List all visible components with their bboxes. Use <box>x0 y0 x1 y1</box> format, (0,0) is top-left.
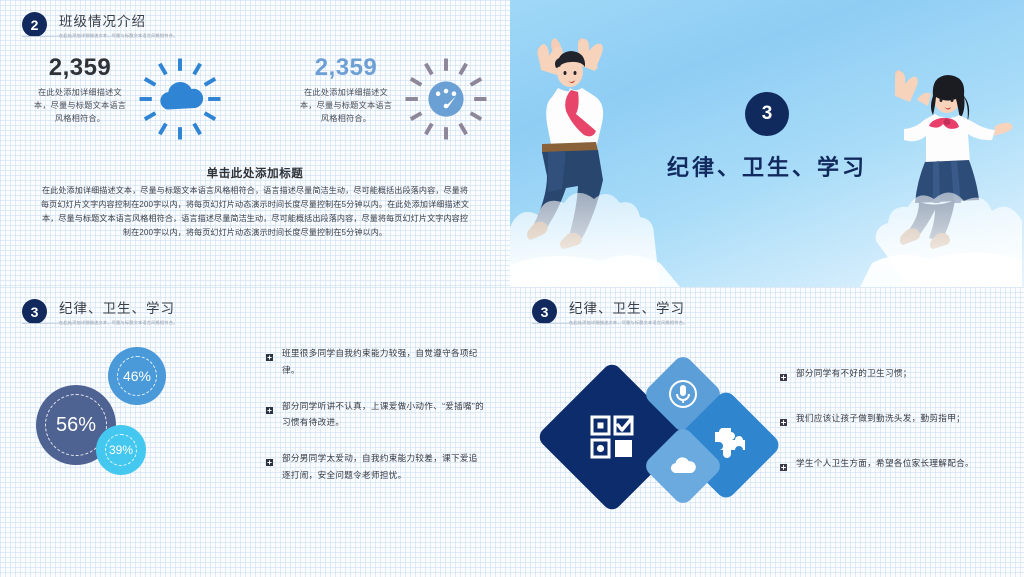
microphone-icon <box>668 379 698 409</box>
header-divider <box>532 323 702 324</box>
bubble-label: 56% <box>56 414 96 437</box>
header-number-badge: 2 <box>22 12 47 37</box>
percentage-bubbles: 56% 46% 39% <box>36 347 266 527</box>
square-plus-bullet-icon <box>780 368 787 386</box>
page-title: 纪律、卫生、学习 <box>59 297 177 317</box>
slide-class-overview[interactable]: 2 班级情况介绍 在此处添加详细描述文本，尽量与标题文本语言风格相符合。 2,3… <box>0 0 510 287</box>
page-title: 纪律、卫生、学习 <box>569 297 687 317</box>
square-plus-bullet-icon <box>780 458 787 476</box>
page-title: 班级情况介绍 <box>59 10 177 30</box>
bullet-list: 班里很多同学自我约束能力较强，自觉遵守各项纪律。 部分同学听讲不认真，上课爱做小… <box>266 345 484 503</box>
slide-section-divider[interactable]: 3 纪律、卫生、学习 <box>510 0 1024 287</box>
stat-value: 2,359 <box>30 55 130 81</box>
bubble-39[interactable]: 39% <box>96 425 146 475</box>
section-number-badge: 3 <box>745 92 789 136</box>
list-item-text: 部分同学有不好的卫生习惯； <box>796 365 912 382</box>
slide-header: 3 纪律、卫生、学习 在此处添加详细描述文本，尽量与标题文本语言风格相符合。 <box>532 297 687 326</box>
header-number-badge: 3 <box>22 299 47 324</box>
list-item[interactable]: 我们应该让孩子做到勤洗头发，勤剪指甲； <box>780 410 1010 431</box>
list-item-text: 部分男同学太爱动，自我约束能力较差，课下爱追逐打闹，安全问题令老师担忧。 <box>282 450 484 484</box>
bubble-label: 39% <box>109 443 133 457</box>
bubble-label: 46% <box>123 368 151 384</box>
slide-header: 2 班级情况介绍 在此处添加详细描述文本，尽量与标题文本语言风格相符合。 <box>22 10 177 39</box>
cloud-icon <box>668 451 698 481</box>
square-plus-bullet-icon <box>266 453 273 471</box>
stat-description: 在此处添加详细描述文本，尽量与标题文本语言风格相符合。 <box>296 87 396 125</box>
slide-header: 3 纪律、卫生、学习 在此处添加详细描述文本，尽量与标题文本语言风格相符合。 <box>22 297 177 326</box>
header-number-badge: 3 <box>532 299 557 324</box>
diamond-icon-cluster <box>558 365 788 515</box>
stat-item-gauge: 2,359 在此处添加详细描述文本，尽量与标题文本语言风格相符合。 <box>296 55 490 143</box>
list-item-text: 部分同学听讲不认真，上课爱做小动作、“爱插嘴”的习惯有待改进。 <box>282 398 484 432</box>
list-item[interactable]: 部分同学听讲不认真，上课爱做小动作、“爱插嘴”的习惯有待改进。 <box>266 398 484 432</box>
stats-row: 2,359 在此处添加详细描述文本，尽量与标题文本语言风格相符合。 <box>30 55 490 143</box>
slide-deck-grid: 2 班级情况介绍 在此处添加详细描述文本，尽量与标题文本语言风格相符合。 2,3… <box>0 0 1024 577</box>
slide-discipline[interactable]: 3 纪律、卫生、学习 在此处添加详细描述文本，尽量与标题文本语言风格相符合。 5… <box>0 287 510 577</box>
body-paragraph: 在此处添加详细描述文本，尽量与标题文本语言风格相符合，语言描述尽量简洁生动，尽可… <box>38 184 472 240</box>
bullet-list: 部分同学有不好的卫生习惯； 我们应该让孩子做到勤洗头发，勤剪指甲； 学生个人卫生… <box>780 365 1010 500</box>
checklist-grid-icon <box>590 415 634 459</box>
header-divider <box>22 323 192 324</box>
list-item[interactable]: 学生个人卫生方面，希望各位家长理解配合。 <box>780 455 1010 476</box>
sky-background: 3 纪律、卫生、学习 <box>510 0 1024 287</box>
list-item[interactable]: 部分男同学太爱动，自我约束能力较差，课下爱追逐打闹，安全问题令老师担忧。 <box>266 450 484 484</box>
list-item-text: 我们应该让孩子做到勤洗头发，勤剪指甲； <box>796 410 965 427</box>
gauge-burst-icon <box>402 55 490 143</box>
section-title: 纪律、卫生、学习 <box>510 150 1024 182</box>
list-item[interactable]: 班里很多同学自我约束能力较强，自觉遵守各项纪律。 <box>266 345 484 379</box>
stat-item-cloud: 2,359 在此处添加详细描述文本，尽量与标题文本语言风格相符合。 <box>30 55 224 143</box>
section-center-block: 3 纪律、卫生、学习 <box>510 92 1024 182</box>
slide-hygiene[interactable]: 3 纪律、卫生、学习 在此处添加详细描述文本，尽量与标题文本语言风格相符合。 <box>510 287 1024 577</box>
cloud-band <box>510 187 1022 287</box>
cloud-burst-icon <box>136 55 224 143</box>
body-title: 单击此处添加标题 <box>0 165 510 181</box>
list-item-text: 学生个人卫生方面，希望各位家长理解配合。 <box>796 455 974 472</box>
square-plus-bullet-icon <box>780 413 787 431</box>
square-plus-bullet-icon <box>266 401 273 419</box>
stat-value: 2,359 <box>296 55 396 81</box>
stat-description: 在此处添加详细描述文本，尽量与标题文本语言风格相符合。 <box>30 87 130 125</box>
bubble-46[interactable]: 46% <box>108 347 166 405</box>
header-divider <box>22 36 192 37</box>
list-item-text: 班里很多同学自我约束能力较强，自觉遵守各项纪律。 <box>282 345 484 379</box>
list-item[interactable]: 部分同学有不好的卫生习惯； <box>780 365 1010 386</box>
square-plus-bullet-icon <box>266 348 273 366</box>
